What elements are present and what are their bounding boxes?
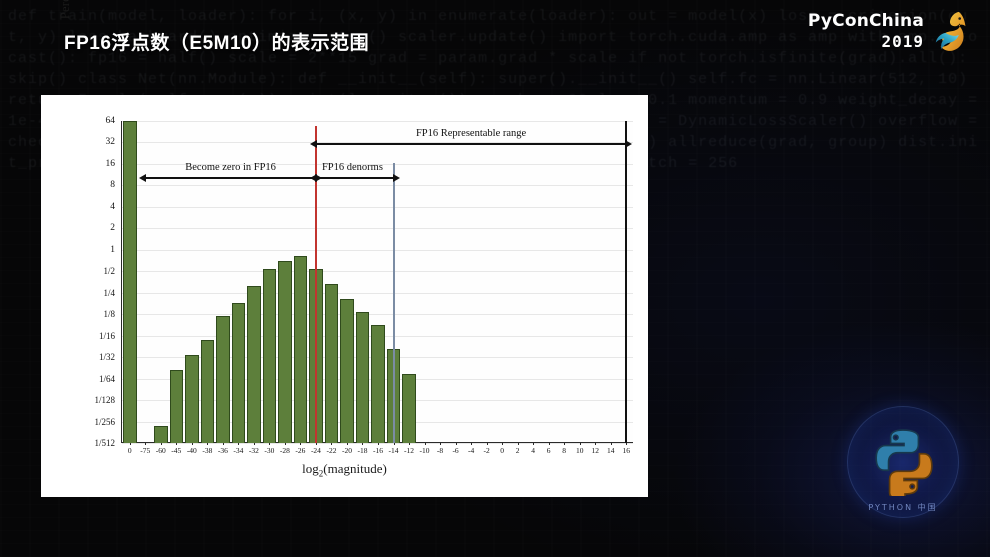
x-axis-tick: -8 <box>437 446 443 455</box>
histogram-bar <box>294 256 308 443</box>
y-axis-tick: 1/32 <box>99 352 122 362</box>
x-axis-tick: -20 <box>342 446 352 455</box>
x-axis-tick: -34 <box>233 446 243 455</box>
x-axis-tick: 0 <box>500 446 504 455</box>
x-axis-tick: 16 <box>622 446 630 455</box>
x-axis-tick: 6 <box>547 446 551 455</box>
fp16-denorm-limit-line <box>393 163 395 443</box>
histogram-bar <box>185 355 199 443</box>
y-axis-tick: 32 <box>106 137 123 147</box>
x-axis-tick: -14 <box>389 446 399 455</box>
histogram-bar <box>232 303 246 443</box>
x-axis-tick: 8 <box>562 446 566 455</box>
x-axis-tick: -4 <box>468 446 474 455</box>
y-axis-tick: 1/8 <box>103 309 122 319</box>
python-logo: PYTHON 中国 <box>843 404 963 534</box>
x-axis-tick: 10 <box>576 446 584 455</box>
x-axis-tick: -75 <box>140 446 150 455</box>
x-axis-tick: -10 <box>420 446 430 455</box>
brand-logo: PyConChina 2019 <box>808 8 976 54</box>
y-axis-tick: 8 <box>110 180 122 190</box>
x-axis-tick: -36 <box>218 446 228 455</box>
plot-area: 64321684211/21/41/81/161/321/641/1281/25… <box>121 121 633 443</box>
x-axis-tick-mark <box>518 442 519 445</box>
y-axis-tick: 1/64 <box>99 374 122 384</box>
arrow-head-right-icon <box>393 174 400 182</box>
y-axis-tick: 64 <box>106 116 123 126</box>
histogram-bar <box>201 340 215 443</box>
gridline <box>122 314 633 315</box>
x-axis-tick-mark <box>487 442 488 445</box>
x-axis-tick-mark <box>440 442 441 445</box>
gridline <box>122 228 633 229</box>
histogram-bar <box>216 316 230 443</box>
x-axis-tick-mark <box>502 442 503 445</box>
x-axis-tick: -45 <box>171 446 181 455</box>
python-logo-caption: PYTHON 中国 <box>843 502 963 513</box>
x-axis-tick: -6 <box>452 446 458 455</box>
brand-name: PyConChina <box>808 13 924 30</box>
x-axis-tick-mark <box>564 442 565 445</box>
x-axis-tick: -60 <box>156 446 166 455</box>
x-axis-tick-mark <box>549 442 550 445</box>
fp16-max-line <box>625 121 627 443</box>
x-axis-label: log2(magnitude) <box>41 461 648 479</box>
arrow-head-left-icon <box>310 174 317 182</box>
python-logo-icon <box>871 428 937 496</box>
y-axis-tick: 1/16 <box>99 331 122 341</box>
x-axis-tick: 12 <box>591 446 599 455</box>
x-axis-tick: -28 <box>280 446 290 455</box>
x-axis-tick: -16 <box>373 446 383 455</box>
histogram-bar <box>123 121 137 443</box>
x-axis-tick-mark <box>595 442 596 445</box>
annotation-arrow <box>316 143 626 145</box>
x-axis-tick: -38 <box>202 446 212 455</box>
y-axis-tick: 2 <box>110 223 122 233</box>
x-axis-tick: -26 <box>295 446 305 455</box>
y-axis-tick: 1/512 <box>94 438 122 448</box>
chart-figure: Percentage of all activation gradient va… <box>41 95 648 497</box>
y-axis-tick: 1 <box>110 245 122 255</box>
x-axis-tick: -32 <box>249 446 259 455</box>
y-axis-tick: 1/4 <box>103 288 122 298</box>
x-axis-tick: 0 <box>128 446 132 455</box>
x-axis-tick: -18 <box>357 446 367 455</box>
histogram-bar <box>356 312 370 443</box>
gridline <box>122 271 633 272</box>
gridline <box>122 121 633 122</box>
histogram-bar <box>154 426 168 443</box>
histogram-bar <box>278 261 292 443</box>
y-axis-tick: 1/256 <box>94 417 122 427</box>
y-axis-tick: 1/2 <box>103 266 122 276</box>
x-axis-tick-mark <box>611 442 612 445</box>
x-axis-tick-mark <box>580 442 581 445</box>
y-axis-tick: 4 <box>110 202 122 212</box>
annotation-label: FP16 Representable range <box>416 128 526 139</box>
x-axis-tick: -30 <box>264 446 274 455</box>
x-axis-tick: -2 <box>483 446 489 455</box>
histogram-bar <box>371 325 385 443</box>
brand-text: PyConChina 2019 <box>808 13 924 50</box>
annotation-arrow <box>316 177 394 179</box>
x-axis-tick-mark <box>471 442 472 445</box>
dragon-icon <box>930 8 976 54</box>
y-axis-tick: 16 <box>106 159 123 169</box>
gridline <box>122 250 633 251</box>
gridline <box>122 293 633 294</box>
annotation-label: Become zero in FP16 <box>185 162 276 173</box>
x-axis-tick: -22 <box>326 446 336 455</box>
x-axis-tick-mark <box>145 442 146 445</box>
histogram-bar <box>340 299 354 443</box>
histogram-bar <box>402 374 416 443</box>
x-axis-tick: -40 <box>187 446 197 455</box>
arrow-head-right-icon <box>625 140 632 148</box>
annotation-arrow <box>145 177 316 179</box>
x-axis-tick-mark <box>533 442 534 445</box>
y-axis-tick: 1/128 <box>94 395 122 405</box>
x-axis-tick: 4 <box>531 446 535 455</box>
histogram-bar <box>247 286 261 443</box>
histogram-bar <box>263 269 277 443</box>
annotation-label: FP16 denorms <box>322 162 383 173</box>
gridline <box>122 207 633 208</box>
x-axis-tick-mark <box>456 442 457 445</box>
y-axis-label: Percentage of all activation gradient va… <box>52 0 78 108</box>
presentation-slide: def train(model, loader): for i, (x, y) … <box>0 0 990 557</box>
x-axis-tick-mark <box>425 442 426 445</box>
arrow-head-left-icon <box>139 174 146 182</box>
histogram-bar <box>325 284 339 443</box>
x-axis-tick: -12 <box>404 446 414 455</box>
arrow-head-left-icon <box>310 140 317 148</box>
slide-title: FP16浮点数（E5M10）的表示范围 <box>64 28 369 55</box>
x-axis-tick: -24 <box>311 446 321 455</box>
gridline <box>122 185 633 186</box>
histogram-bar <box>170 370 184 443</box>
x-axis-tick: 14 <box>607 446 615 455</box>
brand-year: 2019 <box>881 34 924 50</box>
x-axis-tick: 2 <box>516 446 520 455</box>
